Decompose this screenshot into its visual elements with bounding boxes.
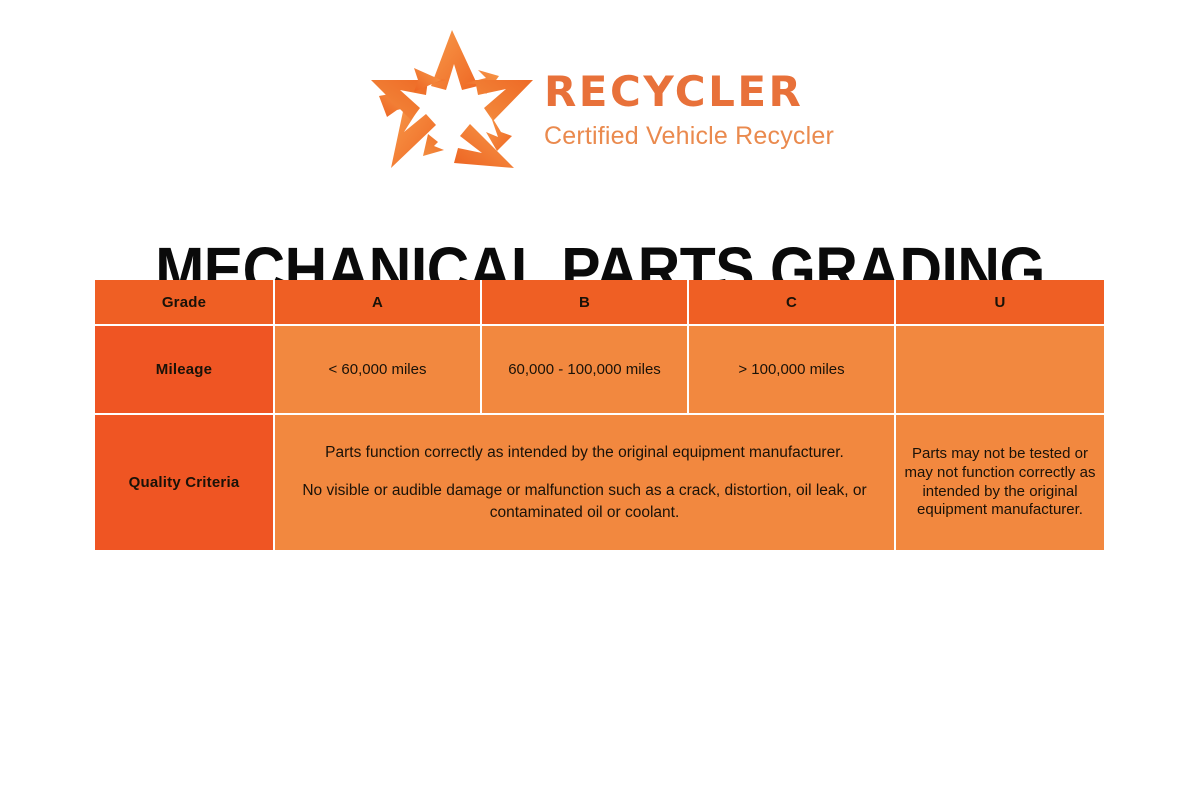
row-label-mileage: Mileage: [95, 326, 275, 415]
mileage-cell-b: 60,000 - 100,000 miles: [482, 326, 689, 415]
mileage-cell-c: > 100,000 miles: [689, 326, 896, 415]
mileage-cell-a: < 60,000 miles: [275, 326, 482, 415]
header-cell-grade: Grade: [95, 280, 275, 326]
quality-paragraph-2: No visible or audible damage or malfunct…: [275, 480, 894, 524]
logo-text-block: RECYCLER Certified Vehicle Recycler: [544, 45, 834, 152]
table-header-row: Grade A B C U: [95, 280, 1104, 326]
logo-tagline: Certified Vehicle Recycler: [544, 121, 834, 152]
header-cell-c: C: [689, 280, 896, 326]
quality-cell-u: Parts may not be tested or may not funct…: [896, 415, 1104, 550]
quality-cell-abc: Parts function correctly as intended by …: [275, 415, 896, 550]
grading-chart-page: RECYCLER Certified Vehicle Recycler MECH…: [0, 0, 1200, 800]
logo-wordmark: RECYCLER: [544, 71, 834, 113]
table-row-quality-criteria: Quality Criteria Parts function correctl…: [95, 415, 1104, 550]
table-row-mileage: Mileage < 60,000 miles 60,000 - 100,000 …: [95, 326, 1104, 415]
logo-inner: RECYCLER Certified Vehicle Recycler: [366, 24, 834, 174]
header-cell-b: B: [482, 280, 689, 326]
brand-logo: RECYCLER Certified Vehicle Recycler: [0, 24, 1200, 174]
header-cell-u: U: [896, 280, 1104, 326]
mileage-cell-u: [896, 326, 1104, 415]
row-label-quality-criteria: Quality Criteria: [95, 415, 275, 550]
recycling-star-icon: [366, 24, 538, 174]
header-cell-a: A: [275, 280, 482, 326]
parts-grading-table: Grade A B C U Mileage < 60,000 miles 60,…: [95, 280, 1104, 550]
quality-paragraph-1: Parts function correctly as intended by …: [275, 442, 894, 464]
